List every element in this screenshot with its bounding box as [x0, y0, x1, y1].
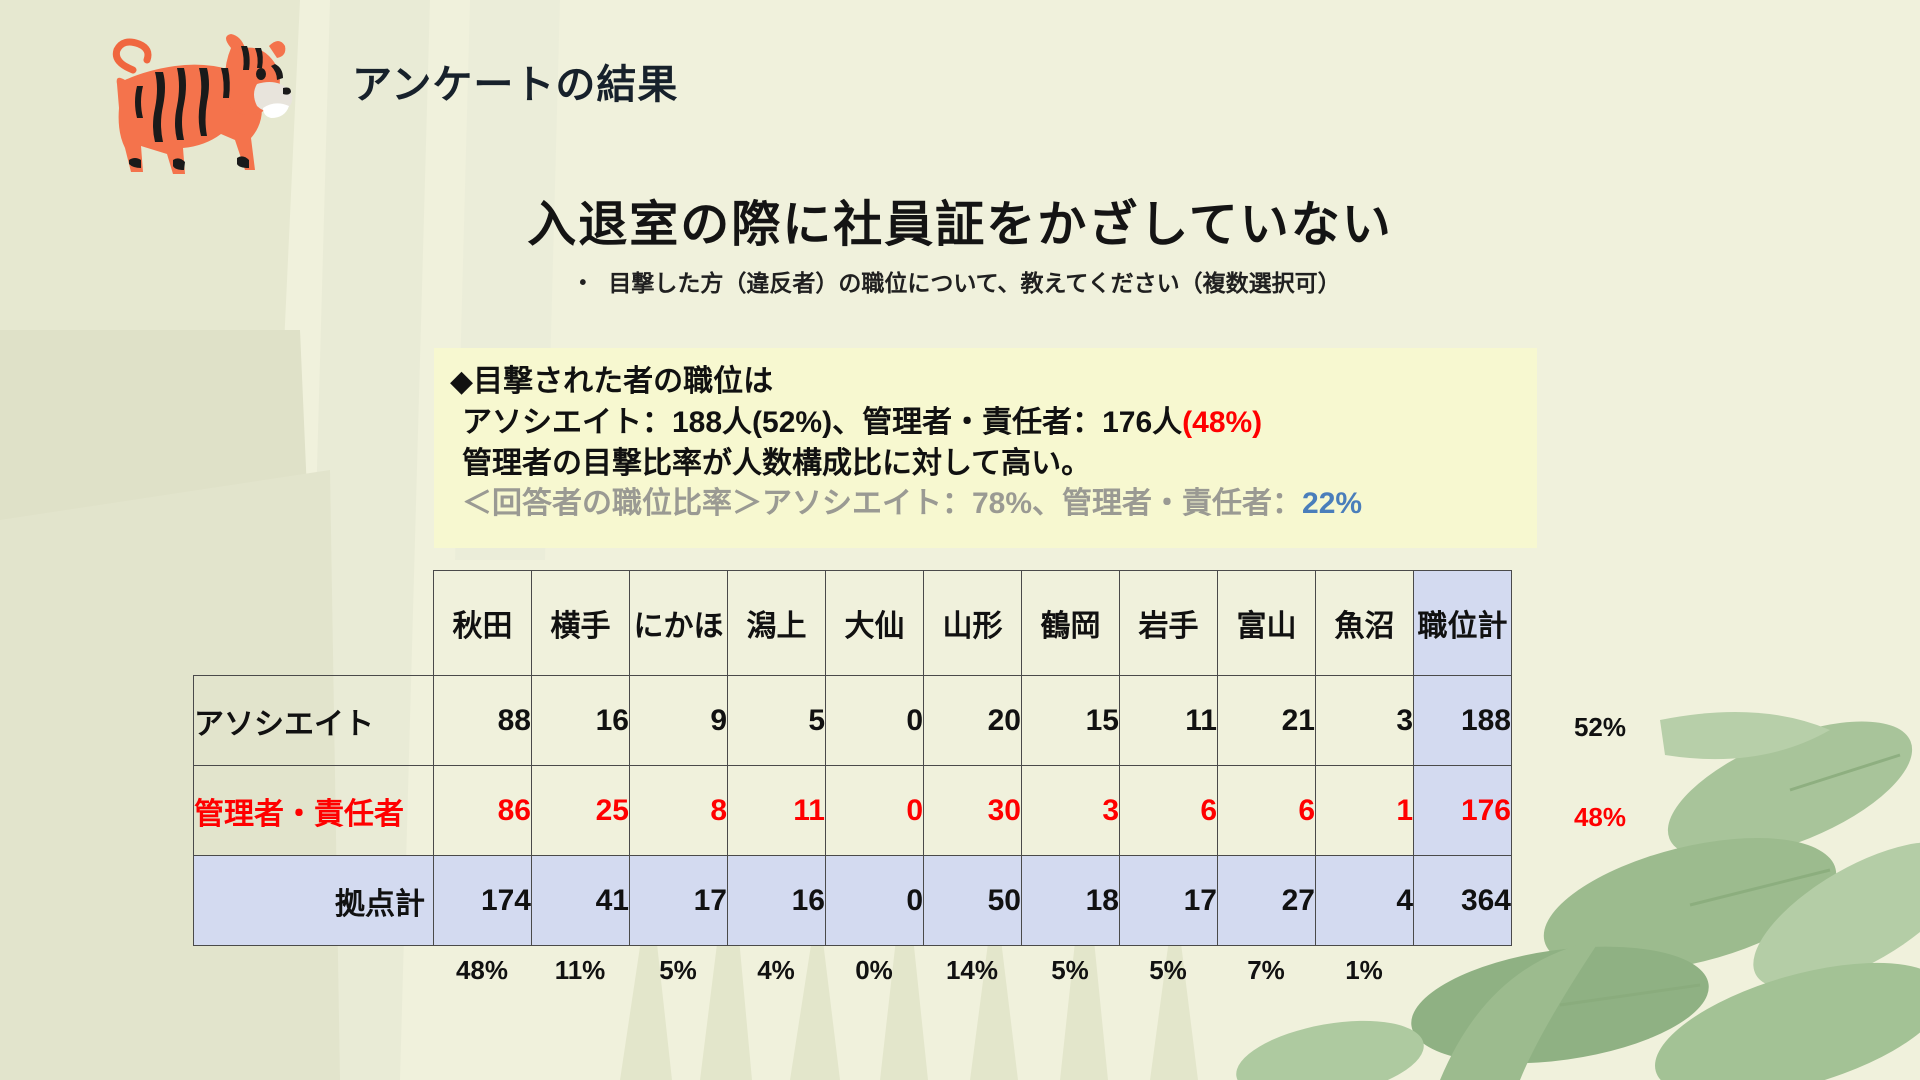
- cell-total-nikaho: 17: [630, 856, 728, 946]
- cell-associate-iwate: 11: [1120, 676, 1218, 766]
- cell-associate-tsuruoka: 15: [1022, 676, 1120, 766]
- results-table: 秋田 横手 にかほ 潟上 大仙 山形 鶴岡 岩手 富山 魚沼 職位計 アソシエイ…: [193, 570, 1512, 946]
- column-share-toyama: 7%: [1217, 955, 1315, 986]
- table-row-site-total: 拠点計 174 41 17 16 0 50 18 17 27 4 364: [194, 856, 1512, 946]
- col-header-yokote: 横手: [532, 571, 630, 676]
- cell-associate-total: 188: [1414, 676, 1512, 766]
- tiger-illustration-icon: [55, 22, 305, 187]
- cell-associate-daisen: 0: [826, 676, 924, 766]
- cell-manager-toyama: 6: [1218, 766, 1316, 856]
- cell-total-daisen: 0: [826, 856, 924, 946]
- cell-associate-yokote: 16: [532, 676, 630, 766]
- callout-line-1: ◆目撃された者の職位は: [450, 362, 1537, 403]
- cell-manager-katagami: 11: [728, 766, 826, 856]
- cell-associate-akita: 88: [434, 676, 532, 766]
- cell-associate-uonuma: 3: [1316, 676, 1414, 766]
- results-table-wrap: 秋田 横手 にかほ 潟上 大仙 山形 鶴岡 岩手 富山 魚沼 職位計 アソシエイ…: [193, 570, 1512, 946]
- callout-line-3: 管理者の目撃比率が人数構成比に対して高い。: [450, 444, 1537, 485]
- bullet-dot-icon: •: [579, 272, 586, 295]
- cell-associate-yamagata: 20: [924, 676, 1022, 766]
- cell-manager-iwate: 6: [1120, 766, 1218, 856]
- column-share-tsuruoka: 5%: [1021, 955, 1119, 986]
- col-header-uonuma: 魚沼: [1316, 571, 1414, 676]
- callout-line-4-highlight: 22%: [1302, 487, 1362, 520]
- row-label-manager: 管理者・責任者: [194, 766, 434, 856]
- subtitle-bullet: •目撃した方（違反者）の職位について、教えてください（複数選択可）: [0, 264, 1920, 298]
- column-share-akita: 48%: [433, 955, 531, 986]
- col-header-akita: 秋田: [434, 571, 532, 676]
- cell-manager-yokote: 25: [532, 766, 630, 856]
- callout-line-4: ＜回答者の職位比率＞アソシエイト：78%、管理者・責任者：22%: [450, 484, 1537, 525]
- cell-associate-katagami: 5: [728, 676, 826, 766]
- table-header-row: 秋田 横手 にかほ 潟上 大仙 山形 鶴岡 岩手 富山 魚沼 職位計: [194, 571, 1512, 676]
- col-header-iwate: 岩手: [1120, 571, 1218, 676]
- col-header-toyama: 富山: [1218, 571, 1316, 676]
- page-title: アンケートの結果: [352, 52, 678, 110]
- cell-manager-tsuruoka: 3: [1022, 766, 1120, 856]
- callout-line-2-text: アソシエイト：188人(52%)、管理者・責任者：176人: [462, 406, 1182, 439]
- table-row-manager: 管理者・責任者 86 25 8 11 0 30 3 6 6 1 176: [194, 766, 1512, 856]
- cell-total-akita: 174: [434, 856, 532, 946]
- cell-total-yokote: 41: [532, 856, 630, 946]
- cell-total-tsuruoka: 18: [1022, 856, 1120, 946]
- subtitle-bullet-text: 目撃した方（違反者）の職位について、教えてください（複数選択可）: [608, 270, 1340, 296]
- cell-total-katagami: 16: [728, 856, 826, 946]
- callout-line-2: アソシエイト：188人(52%)、管理者・責任者：176人(48%): [450, 403, 1537, 444]
- col-header-position-total: 職位計: [1414, 571, 1512, 676]
- table-row-associate: アソシエイト 88 16 9 5 0 20 15 11 21 3 188: [194, 676, 1512, 766]
- cell-manager-nikaho: 8: [630, 766, 728, 856]
- cell-grand-total: 364: [1414, 856, 1512, 946]
- column-share-katagami: 4%: [727, 955, 825, 986]
- slide-header: アンケートの結果: [0, 0, 1920, 150]
- row-label-associate: アソシエイト: [194, 676, 434, 766]
- column-share-daisen: 0%: [825, 955, 923, 986]
- column-share-yokote: 11%: [531, 955, 629, 986]
- cell-manager-akita: 86: [434, 766, 532, 856]
- cell-total-toyama: 27: [1218, 856, 1316, 946]
- col-header-daisen: 大仙: [826, 571, 924, 676]
- cell-total-iwate: 17: [1120, 856, 1218, 946]
- cell-manager-total: 176: [1414, 766, 1512, 856]
- column-share-iwate: 5%: [1119, 955, 1217, 986]
- cell-manager-uonuma: 1: [1316, 766, 1414, 856]
- share-associate: 52%: [1545, 712, 1655, 743]
- col-header-tsuruoka: 鶴岡: [1022, 571, 1120, 676]
- cell-total-yamagata: 50: [924, 856, 1022, 946]
- callout-line-2-highlight: (48%): [1182, 406, 1262, 439]
- row-label-site-total: 拠点計: [194, 856, 434, 946]
- header-corner-blank: [194, 571, 434, 676]
- main-title: 入退室の際に社員証をかざしていない: [0, 185, 1920, 256]
- cell-associate-toyama: 21: [1218, 676, 1316, 766]
- col-header-nikaho: にかほ: [630, 571, 728, 676]
- share-manager: 48%: [1545, 802, 1655, 833]
- column-share-row: 48%11%5%4%0%14%5%5%7%1%: [193, 955, 1413, 986]
- column-share-nikaho: 5%: [629, 955, 727, 986]
- summary-callout: ◆目撃された者の職位は アソシエイト：188人(52%)、管理者・責任者：176…: [434, 348, 1537, 548]
- column-share-uonuma: 1%: [1315, 955, 1413, 986]
- col-header-katagami: 潟上: [728, 571, 826, 676]
- cell-associate-nikaho: 9: [630, 676, 728, 766]
- col-header-yamagata: 山形: [924, 571, 1022, 676]
- cell-total-uonuma: 4: [1316, 856, 1414, 946]
- column-share-yamagata: 14%: [923, 955, 1021, 986]
- cell-manager-yamagata: 30: [924, 766, 1022, 856]
- callout-line-4-text: ＜回答者の職位比率＞アソシエイト：78%、管理者・責任者：: [462, 487, 1302, 520]
- cell-manager-daisen: 0: [826, 766, 924, 856]
